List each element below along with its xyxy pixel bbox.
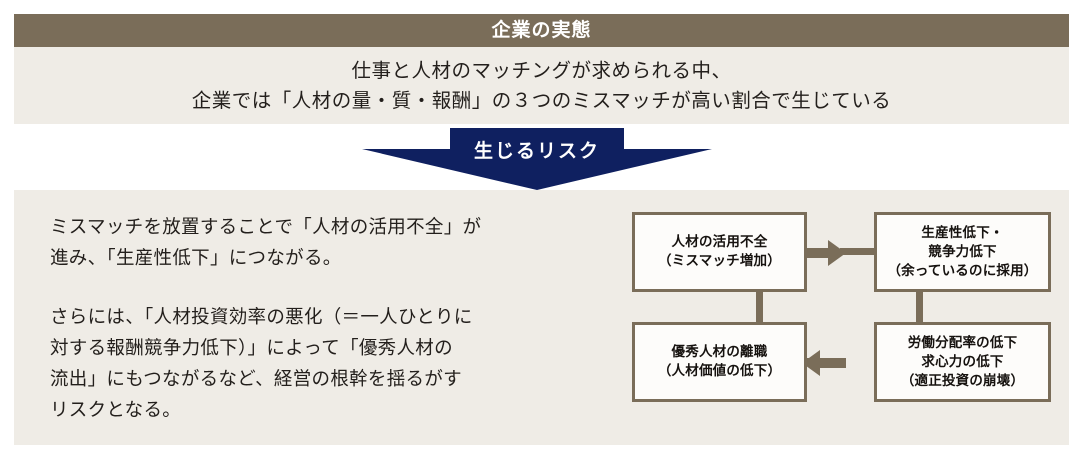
flow-box-line: 競争力低下 (928, 243, 997, 262)
flow-box-labor-share-decline: 労働分配率の低下 求心力の低下 （適正投資の崩壊） (874, 322, 1051, 402)
flow-box-line: （余っているのに採用） (887, 262, 1037, 281)
subtitle-block: 仕事と人材のマッチングが求められる中、 企業では「人材の量・質・報酬」の３つのミ… (14, 47, 1069, 124)
risk-cycle-diagram: 人材の活用不全 （ミスマッチ増加） 生産性低下・ 競争力低下 （余っているのに採… (606, 204, 1051, 409)
flow-box-line: 生産性低下・ (921, 224, 1003, 243)
paragraph-2-line-3: 流出」にもつながるなど、経営の根幹を揺るがす (50, 369, 462, 390)
summary-panel: 企業の実態 仕事と人材のマッチングが求められる中、 企業では「人材の量・質・報酬… (14, 14, 1069, 124)
paragraph-1: ミスマッチを放置することで「人材の活用不全」が 進み、「生産性低下」につながる。 (50, 212, 610, 274)
flow-box-talent-attrition: 優秀人材の離職 （人材価値の低下） (632, 322, 807, 402)
body-text: ミスマッチを放置することで「人材の活用不全」が 進み、「生産性低下」につながる。… (50, 212, 610, 426)
risk-arrow-label: 生じるリスク (362, 128, 712, 174)
flow-box-line: （ミスマッチ増加） (658, 252, 781, 271)
flow-box-talent-underutilization: 人材の活用不全 （ミスマッチ増加） (632, 212, 807, 292)
paragraph-2-line-2: 対する報酬競争力低下）」によって「優秀人材の (50, 338, 453, 359)
header-bar: 企業の実態 (14, 14, 1069, 47)
flow-box-productivity-decline: 生産性低下・ 競争力低下 （余っているのに採用） (874, 212, 1051, 292)
flow-box-line: 人材の活用不全 (672, 233, 768, 252)
paragraph-2-line-4: リスクとなる。 (50, 400, 181, 421)
subtitle-line-2: 企業では「人材の量・質・報酬」の３つのミスマッチが高い割合で生じている (192, 86, 891, 116)
subtitle-line-1: 仕事と人材のマッチングが求められる中、 (351, 56, 731, 86)
flow-box-line: 求心力の低下 (921, 353, 1003, 372)
paragraph-2-line-1: さらには、「人材投資効率の悪化（＝一人ひとりに (50, 307, 473, 328)
flow-box-line: （適正投資の崩壊） (901, 372, 1024, 391)
flow-box-line: （人材価値の低下） (658, 362, 781, 381)
flow-box-line: 優秀人材の離職 (672, 343, 768, 362)
flow-box-line: 労働分配率の低下 (908, 334, 1018, 353)
arrow-right-icon (802, 240, 846, 266)
arrow-left-icon (802, 350, 846, 376)
paragraph-2: さらには、「人材投資効率の悪化（＝一人ひとりに 対する報酬競争力低下）」によって… (50, 302, 610, 426)
page-title: 企業の実態 (491, 21, 591, 40)
risk-arrow-banner: 生じるリスク (362, 128, 712, 190)
risk-detail-panel: ミスマッチを放置することで「人材の活用不全」が 進み、「生産性低下」につながる。… (14, 190, 1069, 445)
paragraph-1-line-1: ミスマッチを放置することで「人材の活用不全」が (50, 217, 481, 238)
paragraph-1-line-2: 進み、「生産性低下」につながる。 (50, 248, 342, 269)
